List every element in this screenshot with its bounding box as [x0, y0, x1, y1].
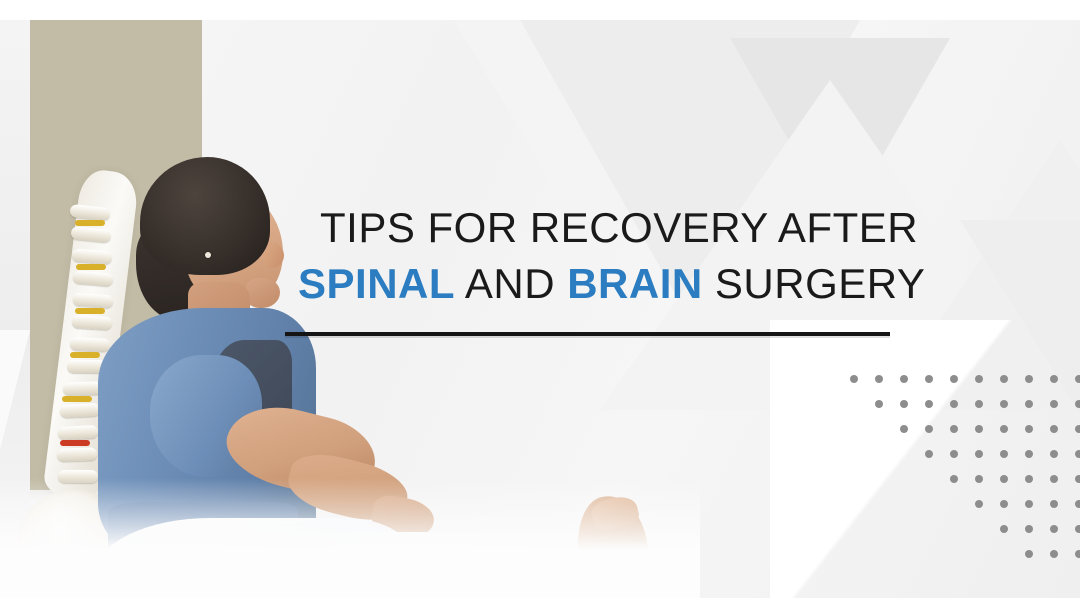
pattern-dot — [1075, 375, 1080, 383]
pattern-dot — [975, 475, 983, 483]
pattern-dot — [925, 450, 933, 458]
pattern-dot — [1025, 525, 1033, 533]
pattern-dot — [975, 400, 983, 408]
pattern-dot — [850, 375, 858, 383]
pattern-dot — [1025, 400, 1033, 408]
left-wedge-shape — [0, 330, 30, 450]
pattern-dot — [975, 500, 983, 508]
pattern-dot — [900, 425, 908, 433]
pattern-dot — [900, 400, 908, 408]
pattern-dot — [925, 400, 933, 408]
pattern-dot — [950, 400, 958, 408]
pattern-dot — [875, 375, 883, 383]
pattern-dot — [1000, 425, 1008, 433]
pattern-dot — [1000, 500, 1008, 508]
pattern-dot — [975, 450, 983, 458]
pattern-dot — [975, 425, 983, 433]
pattern-dot — [1075, 500, 1080, 508]
headline-keyword-brain: BRAIN — [567, 260, 703, 307]
pattern-dot — [1050, 375, 1058, 383]
pattern-dot — [925, 375, 933, 383]
pattern-dot — [950, 425, 958, 433]
pattern-dot — [1075, 550, 1080, 558]
left-edge-strip — [0, 20, 30, 598]
pattern-dot — [950, 475, 958, 483]
headline-underline-shadow — [285, 336, 890, 338]
pattern-dot — [1075, 525, 1080, 533]
pattern-dot — [1000, 375, 1008, 383]
pattern-dot — [1050, 425, 1058, 433]
pattern-dot — [1025, 375, 1033, 383]
pattern-dot — [1050, 500, 1058, 508]
pattern-dot — [1000, 525, 1008, 533]
headline-keyword-spinal: SPINAL — [298, 260, 455, 307]
pattern-dot — [975, 375, 983, 383]
promo-banner: TIPS FOR RECOVERY AFTER SPINAL AND BRAIN… — [0, 0, 1080, 614]
pattern-dot — [1075, 450, 1080, 458]
pattern-dot — [1000, 475, 1008, 483]
pattern-dot — [1050, 475, 1058, 483]
headline-line-1: TIPS FOR RECOVERY AFTER — [320, 204, 920, 252]
pattern-dot — [1025, 550, 1033, 558]
headline-line-2: SPINAL AND BRAIN SURGERY — [298, 260, 920, 308]
pattern-dot — [900, 375, 908, 383]
pattern-dot — [875, 400, 883, 408]
triangular-dot-grid — [850, 375, 1080, 575]
pattern-dot — [1075, 400, 1080, 408]
pattern-dot — [1000, 450, 1008, 458]
pattern-dot — [950, 450, 958, 458]
beige-band-fade — [30, 430, 202, 500]
top-margin — [0, 0, 1080, 20]
pattern-dot — [1075, 425, 1080, 433]
pattern-dot — [1025, 475, 1033, 483]
pattern-dot — [1000, 400, 1008, 408]
pattern-dot — [925, 425, 933, 433]
pattern-dot — [1050, 525, 1058, 533]
pattern-dot — [1025, 425, 1033, 433]
pattern-dot — [1025, 500, 1033, 508]
pattern-dot — [1050, 400, 1058, 408]
pattern-dot — [950, 375, 958, 383]
beige-accent-band — [30, 20, 202, 490]
pattern-dot — [1050, 450, 1058, 458]
pattern-dot — [1075, 475, 1080, 483]
headline-conjunction: AND — [455, 260, 567, 307]
headline-block: TIPS FOR RECOVERY AFTER SPINAL AND BRAIN… — [320, 204, 920, 308]
pattern-dot — [1025, 450, 1033, 458]
bottom-margin — [0, 598, 1080, 614]
headline-suffix: SURGERY — [703, 260, 926, 307]
pattern-dot — [1050, 550, 1058, 558]
